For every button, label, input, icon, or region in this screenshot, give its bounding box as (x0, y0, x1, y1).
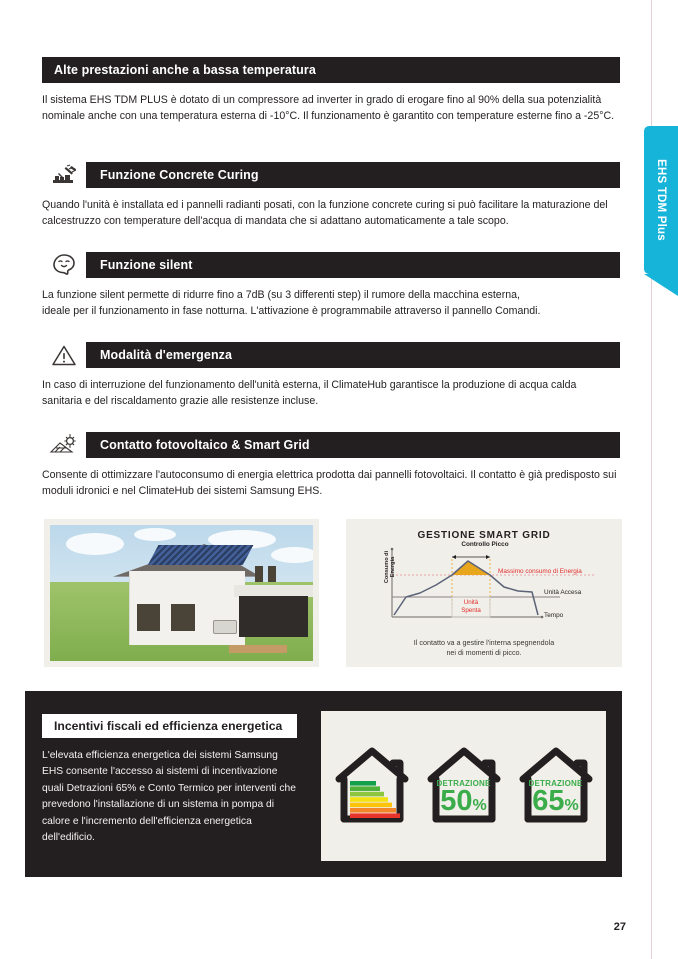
section-title-bar: Modalità d'emergenza (86, 342, 620, 368)
incentives-title: Incentivi fiscali ed efficienza energeti… (54, 719, 282, 733)
section-contatto-fotovoltaico: Contatto fotovoltaico & Smart Grid Conse… (42, 432, 620, 499)
incentives-graphic-card: DETRAZIONE 50% DETRAZIONE 65% (321, 711, 606, 861)
chart-annotation-controllo-picco: Controllo Picco (450, 541, 520, 548)
house-detrazione-50-icon: DETRAZIONE 50% (425, 743, 503, 829)
side-tab-fold (644, 274, 678, 296)
chart-annotation-unita-spenta-2: Spenta (455, 607, 487, 614)
section-header: Contatto fotovoltaico & Smart Grid (42, 432, 620, 458)
house-icons-row: DETRAZIONE 50% DETRAZIONE 65% (321, 711, 606, 861)
section-funzione-silent: Funzione silent La funzione silent perme… (42, 252, 620, 319)
section-concrete-curing: Funzione Concrete Curing Quando l'unità … (42, 162, 620, 229)
section-header: Modalità d'emergenza (42, 342, 620, 368)
side-tab-label: EHS TDM Plus (655, 159, 667, 241)
section-title-bar: Funzione Concrete Curing (86, 162, 620, 188)
chart-title: GESTIONE SMART GRID (346, 530, 622, 541)
detrazione-unit: % (565, 797, 579, 814)
house-detrazione-65-icon: DETRAZIONE 65% (517, 743, 595, 829)
side-tab-ehs-tdm-plus[interactable]: EHS TDM Plus (644, 126, 678, 274)
chart-caption: Il contatto va a gestire l'interna spegn… (346, 638, 622, 658)
warning-triangle-icon (42, 342, 86, 368)
section-header: Funzione silent (42, 252, 620, 278)
section-title: Modalità d'emergenza (100, 348, 232, 362)
page-number: 27 (614, 921, 626, 933)
house-photo-image (50, 525, 313, 661)
caption-line: Il contatto va a gestire l'interna spegn… (346, 638, 622, 648)
section-title-bar: Funzione silent (86, 252, 620, 278)
body-line: La funzione silent permette di ridurre f… (42, 287, 620, 303)
incentives-panel: Incentivi fiscali ed efficienza energeti… (25, 691, 622, 877)
section-header: Alte prestazioni anche a bassa temperatu… (42, 57, 620, 83)
section-body: La funzione silent permette di ridurre f… (42, 287, 620, 319)
section-title: Contatto fotovoltaico & Smart Grid (100, 438, 310, 452)
chart-annotation-massimo-consumo: Massimo consumo di Energia (498, 568, 582, 575)
incentives-title-box: Incentivi fiscali ed efficienza energeti… (42, 714, 297, 738)
chart-annotation-unita-accesa: Unità Accesa (544, 589, 581, 596)
section-title: Alte prestazioni anche a bassa temperatu… (54, 63, 316, 77)
media-row: GESTIONE SMART GRID (44, 519, 622, 667)
detrazione-value: 65 (532, 785, 564, 817)
section-alte-prestazioni: Alte prestazioni anche a bassa temperatu… (42, 57, 620, 124)
section-body: Quando l'unità è installata ed i pannell… (42, 197, 620, 229)
section-body: In caso di interruzione del funzionament… (42, 377, 620, 409)
section-body: Il sistema EHS TDM PLUS è dotato di un c… (42, 92, 620, 124)
body-line: Consente di ottimizzare l'autoconsumo di… (42, 467, 620, 483)
body-line: calcestruzzo con temperature dell'acqua … (42, 213, 620, 229)
body-line: Quando l'unità è installata ed i pannell… (42, 197, 620, 213)
section-header: Funzione Concrete Curing (42, 162, 620, 188)
body-line: moduli idronici e nel ClimateHub dei sis… (42, 483, 620, 499)
section-modalita-emergenza: Modalità d'emergenza In caso di interruz… (42, 342, 620, 409)
section-title-bar: Alte prestazioni anche a bassa temperatu… (42, 57, 620, 83)
document-page: EHS TDM Plus Alte prestazioni anche a ba… (0, 0, 678, 959)
chart-xlabel: Tempo (544, 612, 563, 619)
body-line: Il sistema EHS TDM PLUS è dotato di un c… (42, 92, 620, 108)
section-body: Consente di ottimizzare l'autoconsumo di… (42, 467, 620, 499)
house-energy-rating-icon (333, 743, 411, 829)
sleeping-face-icon (42, 252, 86, 278)
chart-plot-area: Controllo Picco Massimo consumo di Energ… (346, 543, 622, 629)
chart-annotation-unita-spenta-1: Unità (455, 599, 487, 606)
body-line: ideale per il funzionamento in fase nott… (42, 303, 620, 319)
section-title: Funzione silent (100, 258, 192, 272)
concrete-curing-icon (42, 162, 86, 188)
body-line: nominale anche con una temperatura ester… (42, 108, 620, 124)
detrazione-value: 50 (440, 785, 472, 817)
body-line: In caso di interruzione del funzionament… (42, 377, 620, 393)
caption-line: nei di momenti di picco. (346, 648, 622, 658)
solar-panel-icon (42, 432, 86, 458)
smart-grid-chart: GESTIONE SMART GRID (346, 519, 622, 667)
detrazione-unit: % (473, 797, 487, 814)
chart-ylabel: Consumo di Energia (384, 541, 396, 593)
section-title: Funzione Concrete Curing (100, 168, 259, 182)
house-photo (44, 519, 319, 667)
body-line: sanitaria e del riscaldamento grazie all… (42, 393, 620, 409)
incentives-body: L'elevata efficienza energetica dei sist… (42, 748, 300, 846)
section-title-bar: Contatto fotovoltaico & Smart Grid (86, 432, 620, 458)
